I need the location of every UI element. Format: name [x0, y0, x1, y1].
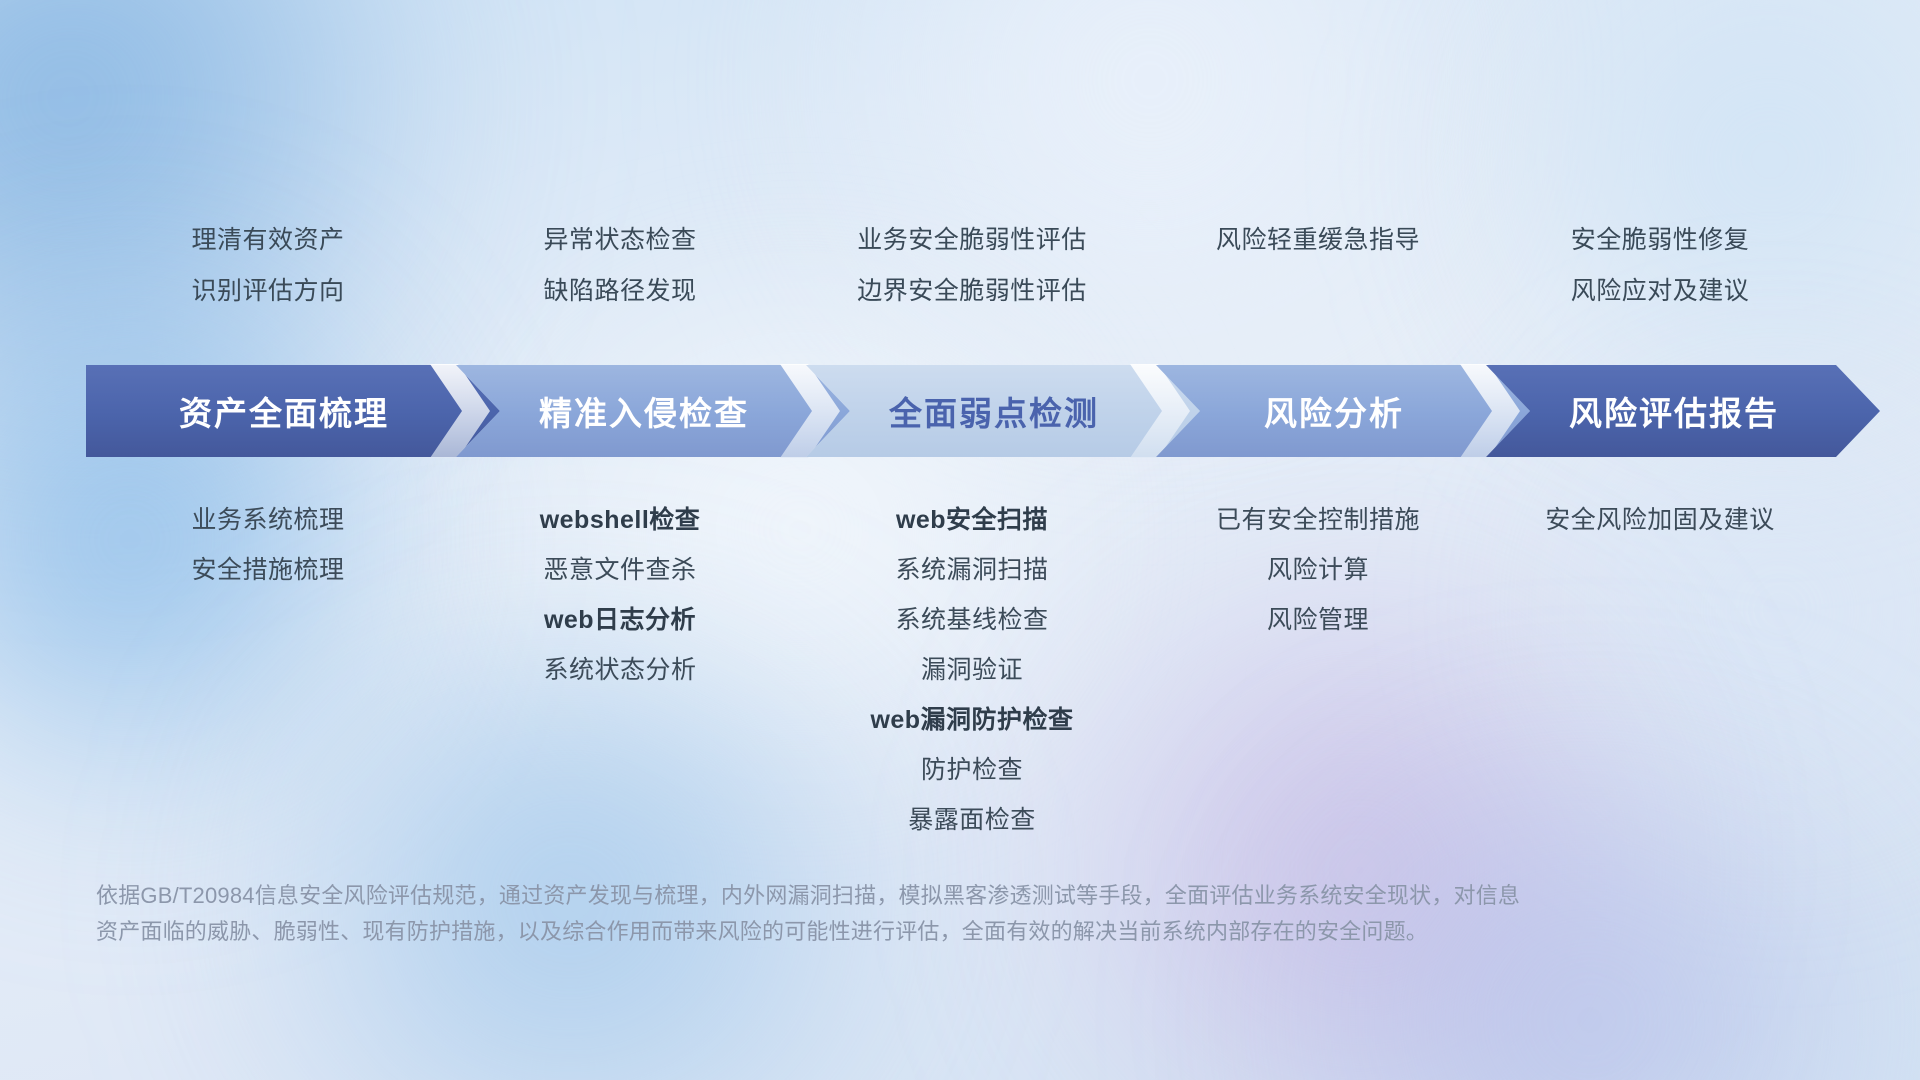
caption-text: 缺陷路径发现: [543, 279, 696, 304]
footer-line-2: 资产面临的威胁、脆弱性、现有防护措施，以及综合作用而带来风险的可能性进行评估，全…: [96, 914, 1626, 950]
detail-column-intrusion-check: webshell检查恶意文件查杀web日志分析系统状态分析: [444, 508, 796, 833]
top-caption-column-asset-review: 理清有效资产识别评估方向: [92, 228, 444, 304]
detail-item: 系统状态分析: [543, 658, 696, 683]
process-step-label: 精准入侵检查: [539, 387, 767, 435]
detail-item: 防护检查: [921, 758, 1023, 783]
detail-column-weakness-detection: web安全扫描系统漏洞扫描系统基线检查漏洞验证web漏洞防护检查防护检查暴露面检…: [796, 508, 1148, 833]
detail-column-risk-report: 安全风险加固及建议: [1488, 508, 1832, 833]
detail-item: 风险管理: [1267, 608, 1369, 633]
top-caption-row: 理清有效资产识别评估方向异常状态检查缺陷路径发现业务安全脆弱性评估边界安全脆弱性…: [92, 228, 1832, 304]
detail-item: 系统基线检查: [895, 608, 1048, 633]
process-step-label: 全面弱点检测: [889, 387, 1117, 435]
detail-item: 暴露面检查: [908, 808, 1036, 833]
top-caption-column-weakness-detection: 业务安全脆弱性评估边界安全脆弱性评估: [796, 228, 1148, 304]
process-arrow-banner: 资产全面梳理精准入侵检查全面弱点检测风险分析风险评估报告: [86, 365, 1836, 457]
footer-line-1: 依据GB/T20984信息安全风险评估规范，通过资产发现与梳理，内外网漏洞扫描，…: [96, 878, 1626, 914]
process-step-label: 风险评估报告: [1569, 387, 1797, 435]
detail-item: 已有安全控制措施: [1216, 508, 1420, 533]
caption-text: 边界安全脆弱性评估: [857, 279, 1087, 304]
detail-item: web安全扫描: [896, 508, 1048, 533]
process-step-label: 风险分析: [1264, 387, 1422, 435]
detail-item: 风险计算: [1267, 558, 1369, 583]
detail-item: 恶意文件查杀: [543, 558, 696, 583]
caption-text: 风险轻重缓急指导: [1216, 228, 1420, 253]
process-step-asset-review[interactable]: 资产全面梳理: [86, 365, 500, 457]
detail-item: web漏洞防护检查: [870, 708, 1073, 733]
caption-text: 异常状态检查: [543, 228, 696, 253]
detail-item: web日志分析: [544, 608, 696, 633]
slide-canvas: 理清有效资产识别评估方向异常状态检查缺陷路径发现业务安全脆弱性评估边界安全脆弱性…: [0, 0, 1920, 1080]
process-step-risk-report[interactable]: 风险评估报告: [1486, 365, 1880, 457]
detail-column-asset-review: 业务系统梳理安全措施梳理: [92, 508, 444, 833]
detail-item: webshell检查: [540, 508, 701, 533]
detail-item-row: 业务系统梳理安全措施梳理webshell检查恶意文件查杀web日志分析系统状态分…: [92, 508, 1832, 833]
top-caption-column-risk-report: 安全脆弱性修复风险应对及建议: [1488, 228, 1832, 304]
slide-content: 理清有效资产识别评估方向异常状态检查缺陷路径发现业务安全脆弱性评估边界安全脆弱性…: [0, 0, 1920, 1080]
detail-item: 安全风险加固及建议: [1545, 508, 1775, 533]
caption-text: 安全脆弱性修复: [1571, 228, 1750, 253]
detail-item-label: webshell检查: [540, 506, 701, 534]
process-step-label: 资产全面梳理: [179, 387, 407, 435]
detail-item-label: web日志分析: [544, 606, 696, 634]
detail-item: 系统漏洞扫描: [895, 558, 1048, 583]
caption-text: 风险应对及建议: [1571, 279, 1750, 304]
caption-text: 理清有效资产: [191, 228, 344, 253]
top-caption-column-risk-analysis: 风险轻重缓急指导: [1148, 228, 1488, 304]
caption-text: 识别评估方向: [191, 279, 344, 304]
detail-item: 业务系统梳理: [191, 508, 344, 533]
top-caption-column-intrusion-check: 异常状态检查缺陷路径发现: [444, 228, 796, 304]
detail-item-label: web安全扫描: [896, 506, 1048, 534]
detail-column-risk-analysis: 已有安全控制措施风险计算风险管理: [1148, 508, 1488, 833]
detail-item: 漏洞验证: [921, 658, 1023, 683]
detail-item-label: web漏洞防护检查: [870, 706, 1073, 734]
footer-description: 依据GB/T20984信息安全风险评估规范，通过资产发现与梳理，内外网漏洞扫描，…: [96, 878, 1626, 950]
detail-item: 安全措施梳理: [191, 558, 344, 583]
caption-text: 业务安全脆弱性评估: [857, 228, 1087, 253]
